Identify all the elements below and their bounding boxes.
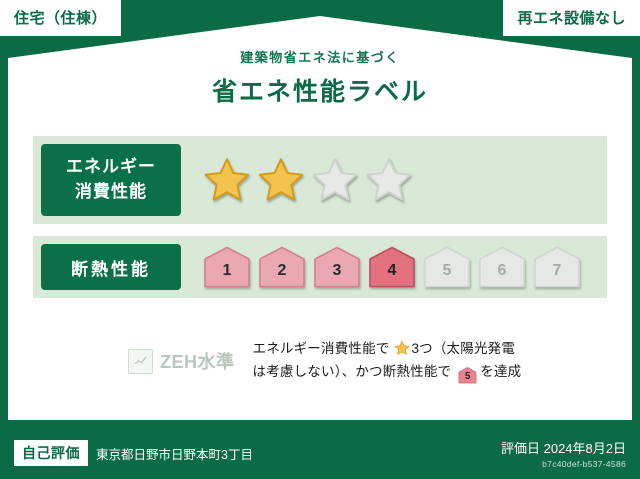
insulation-level-number: 3 bbox=[333, 263, 342, 288]
title-subtitle: 建築物省エネ法に基づく bbox=[0, 47, 640, 66]
energy-row-body bbox=[181, 136, 607, 224]
insulation-level-number: 2 bbox=[278, 263, 287, 288]
document-id: b7c40def-b537-4586 bbox=[501, 459, 626, 469]
row-energy-consumption: エネルギー 消費性能 bbox=[33, 136, 607, 224]
footer-right: 評価日 2024年8月2日 b7c40def-b537-4586 bbox=[501, 438, 626, 469]
zeh-desc-line2-post: を達成 bbox=[480, 364, 521, 379]
row-insulation-performance: 断熱性能 1234567 bbox=[33, 236, 607, 298]
insulation-level-7: 7 bbox=[533, 246, 581, 288]
insulation-row-body: 1234567 bbox=[181, 236, 607, 298]
star-filled-icon bbox=[257, 156, 305, 204]
insulation-level-scale: 1234567 bbox=[203, 246, 581, 288]
insulation-level-2: 2 bbox=[258, 246, 306, 288]
badge-renewable-energy: 再エネ設備なし bbox=[503, 0, 640, 36]
star-rating bbox=[203, 156, 413, 204]
star-empty-icon bbox=[311, 156, 359, 204]
insulation-level-number: 6 bbox=[498, 263, 507, 288]
insulation-label-text: 断熱性能 bbox=[71, 255, 151, 280]
footer-bar: 自己評価 東京都日野市日野本町3丁目 評価日 2024年8月2日 b7c40de… bbox=[0, 427, 640, 479]
badge-building-type: 住宅（住棟） bbox=[0, 0, 121, 36]
insulation-level-number: 7 bbox=[553, 263, 562, 288]
energy-label-line2: 消費性能 bbox=[75, 180, 147, 205]
row-label-insulation: 断熱性能 bbox=[41, 244, 181, 290]
zeh-mark: ZEH水準 bbox=[128, 348, 235, 374]
insulation-level-6: 6 bbox=[478, 246, 526, 288]
star-empty-icon bbox=[365, 156, 413, 204]
zeh-desc-star-count: 3つ（太陽光発電 bbox=[411, 341, 515, 356]
zeh-desc-pre: エネルギー消費性能で bbox=[253, 341, 390, 356]
zeh-note: ZEH水準 エネルギー消費性能で 3つ（太陽光発電 は考慮しない）、かつ断熱性能… bbox=[33, 330, 607, 392]
insulation-level-number: 1 bbox=[223, 263, 232, 288]
zeh-label: ZEH水準 bbox=[160, 348, 235, 374]
self-evaluation-badge: 自己評価 bbox=[14, 440, 88, 466]
row-label-energy-consumption: エネルギー 消費性能 bbox=[41, 144, 181, 216]
zeh-description: エネルギー消費性能で 3つ（太陽光発電 は考慮しない）、かつ断熱性能で 5 を達… bbox=[253, 338, 522, 383]
insulation-level-number: 5 bbox=[443, 263, 452, 288]
evaluation-date: 評価日 2024年8月2日 bbox=[501, 438, 626, 457]
zeh-check-icon bbox=[128, 349, 153, 374]
inline-house-number: 5 bbox=[458, 367, 477, 387]
star-filled-icon bbox=[203, 156, 251, 204]
energy-label-line1: エネルギー bbox=[66, 155, 156, 180]
insulation-level-1: 1 bbox=[203, 246, 251, 288]
insulation-level-3: 3 bbox=[313, 246, 361, 288]
energy-performance-label: 住宅（住棟） 再エネ設備なし 建築物省エネ法に基づく 省エネ性能ラベル エネルギ… bbox=[0, 0, 640, 479]
zeh-description-line2: は考慮しない）、かつ断熱性能で 5 を達成 bbox=[253, 361, 522, 384]
inline-star-icon bbox=[394, 340, 410, 356]
page-title: 省エネ性能ラベル bbox=[0, 72, 640, 108]
insulation-level-4: 4 bbox=[368, 246, 416, 288]
zeh-description-line1: エネルギー消費性能で 3つ（太陽光発電 bbox=[253, 338, 522, 360]
footer-left: 自己評価 東京都日野市日野本町3丁目 bbox=[14, 440, 253, 466]
insulation-level-5: 5 bbox=[423, 246, 471, 288]
zeh-desc-line2-pre: は考慮しない）、かつ断熱性能で bbox=[253, 364, 452, 379]
title-block: 建築物省エネ法に基づく 省エネ性能ラベル bbox=[0, 47, 640, 108]
inline-house-badge: 5 bbox=[458, 367, 477, 384]
property-address: 東京都日野市日野本町3丁目 bbox=[96, 444, 253, 463]
insulation-level-number: 4 bbox=[388, 263, 397, 288]
